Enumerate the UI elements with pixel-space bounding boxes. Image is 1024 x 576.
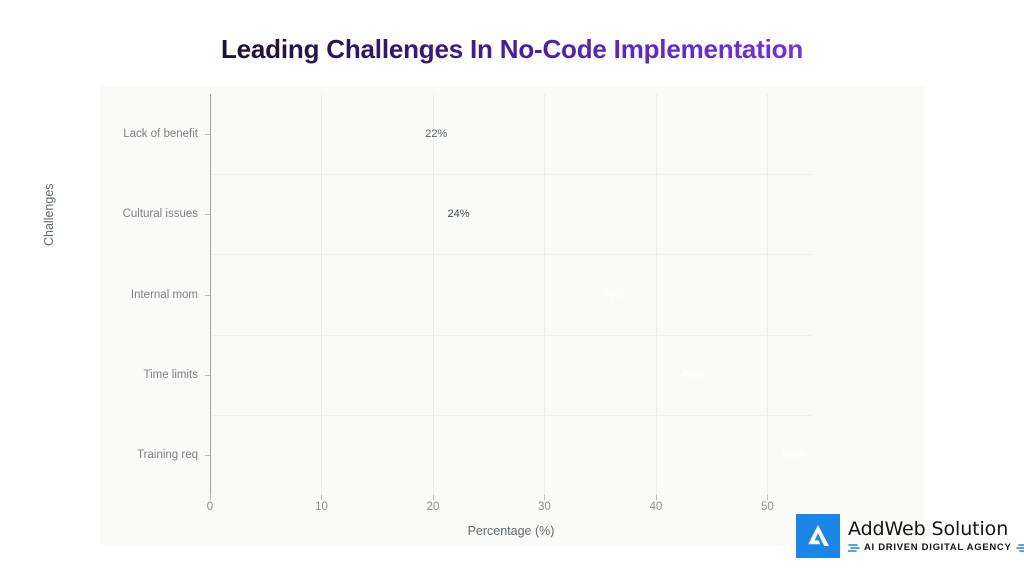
logo-tagline-row: AI DRIVEN DIGITAL AGENCY <box>848 543 1024 553</box>
plot-area: 22%24%38%45%54% <box>210 94 812 495</box>
x-axis-tick-label: 50 <box>761 501 774 513</box>
speed-lines-right-icon <box>1016 543 1024 553</box>
x-axis-tick <box>321 495 322 500</box>
x-axis-title: Percentage (%) <box>210 524 812 538</box>
x-axis-tick <box>433 495 434 500</box>
bar-value-label: 24% <box>448 208 470 220</box>
addweb-logo-text: AddWeb Solution AI DRIVEN DIGITAL AGENCY <box>848 520 1024 553</box>
bar-value-label: 45% <box>682 369 704 381</box>
y-axis-category-label: Training req <box>137 449 198 461</box>
x-axis-tick <box>544 495 545 500</box>
x-axis-tick-label: 30 <box>538 501 551 513</box>
bar-value-label: 38% <box>604 288 626 300</box>
x-axis-tick-label: 0 <box>207 501 213 513</box>
addweb-a-icon <box>803 521 833 551</box>
y-axis-tick <box>205 375 210 376</box>
y-axis-tick <box>205 214 210 215</box>
speed-lines-left-icon <box>848 543 860 553</box>
logo-tagline: AI DRIVEN DIGITAL AGENCY <box>864 543 1012 553</box>
y-axis-title: Challenges <box>42 183 56 246</box>
chart-page: Leading Challenges In No-Code Implementa… <box>0 0 1024 576</box>
x-axis-tick <box>767 495 768 500</box>
x-axis-tick-label: 20 <box>427 501 440 513</box>
page-title: Leading Challenges In No-Code Implementa… <box>0 34 1024 65</box>
addweb-logo-mark <box>796 514 840 558</box>
x-axis-tick-label: 10 <box>315 501 328 513</box>
y-axis-tick <box>205 134 210 135</box>
chart-figure: 22%24%38%45%54% Lack of benefitCultural … <box>100 86 925 545</box>
addweb-logo: AddWeb Solution AI DRIVEN DIGITAL AGENCY <box>796 514 1024 558</box>
bar-value-label: 22% <box>425 128 447 140</box>
x-axis-tick <box>656 495 657 500</box>
bar-item[interactable]: 38% <box>210 262 634 326</box>
y-axis-category-label: Cultural issues <box>123 208 198 220</box>
bar-value-label: 54% <box>782 449 804 461</box>
bar-item[interactable]: 54% <box>210 423 812 487</box>
bar-item[interactable]: 45% <box>210 343 712 407</box>
bar-item[interactable]: 22% <box>210 102 455 166</box>
x-axis-tick-label: 40 <box>650 501 663 513</box>
bar-item[interactable]: 24% <box>210 182 478 246</box>
logo-company-name: AddWeb Solution <box>848 520 1024 539</box>
y-axis-category-label: Lack of benefit <box>123 128 198 140</box>
y-axis-tick <box>205 455 210 456</box>
y-axis-tick <box>205 295 210 296</box>
bar-series: 22%24%38%45%54% <box>210 94 812 495</box>
x-axis-tick <box>210 495 211 500</box>
y-axis-category-label: Time limits <box>143 369 198 381</box>
y-axis-category-label: Internal mom <box>131 289 198 301</box>
y-axis-line <box>210 94 211 495</box>
